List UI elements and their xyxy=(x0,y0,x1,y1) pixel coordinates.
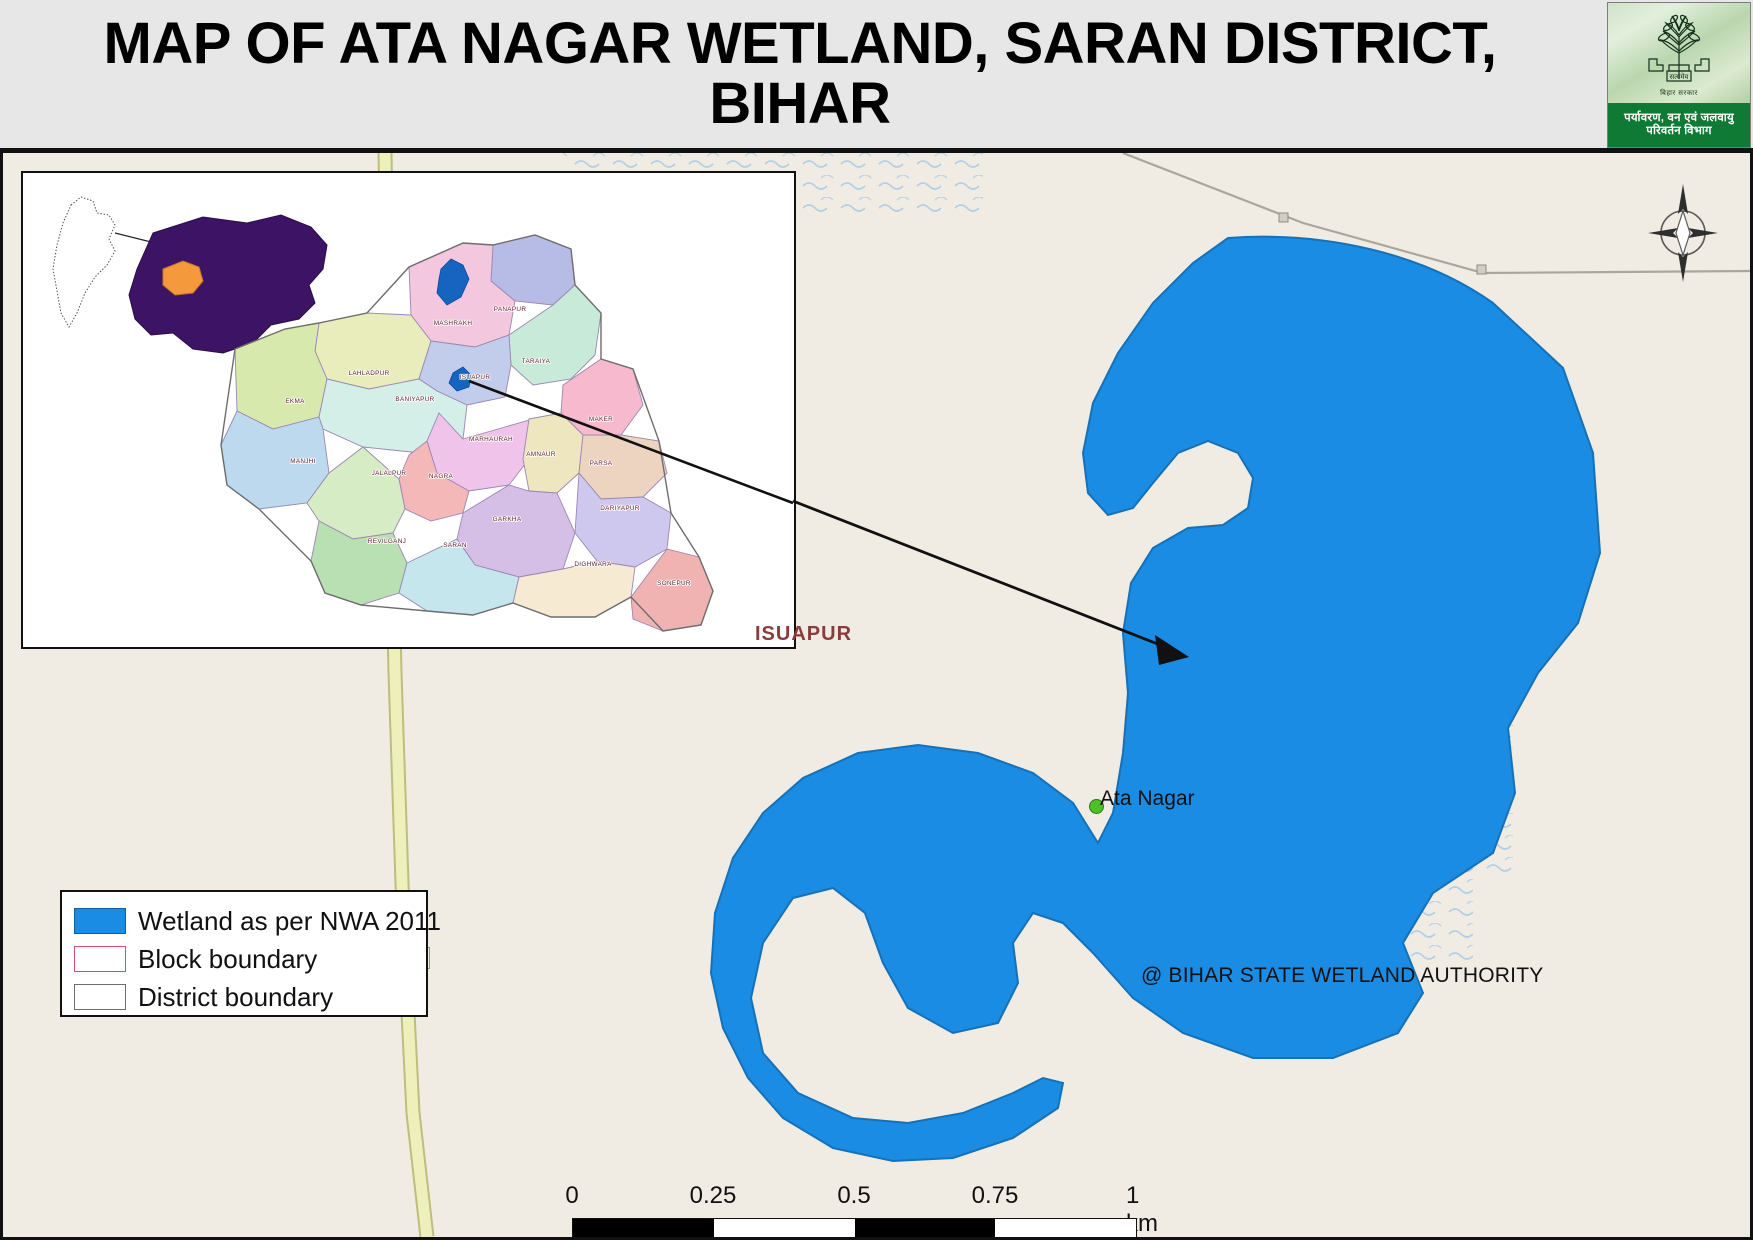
locator-inset-map[interactable]: PANAPURMASHRAKHTARAIYALAHLADPURISUAPUREK… xyxy=(21,171,796,649)
scale-tick-05: 0.5 xyxy=(837,1182,870,1210)
inset-block-label: GARKHA xyxy=(493,516,522,523)
legend-row: Wetland as per NWA 2011 xyxy=(74,902,426,940)
inset-block-label: REVILGANJ xyxy=(368,538,406,545)
emblem-icon: सत्यमेव बिहार सरकार xyxy=(1608,7,1750,107)
inset-block-label: MAKER xyxy=(589,416,613,423)
inset-block-label: AMNAUR xyxy=(526,451,556,458)
inset-block-label: PANAPUR xyxy=(494,306,527,313)
map-poster: MAP OF ATA NAGAR WETLAND, SARAN DISTRICT… xyxy=(0,0,1753,1240)
inset-block-label: DIGHWARA xyxy=(574,561,612,568)
inset-graphics: PANAPURMASHRAKHTARAIYALAHLADPURISUAPUREK… xyxy=(23,173,794,647)
inset-block-label: LAHLADPUR xyxy=(348,370,389,377)
main-map-canvas[interactable]: PANAPURMASHRAKHTARAIYALAHLADPURISUAPUREK… xyxy=(0,150,1753,1240)
poster-header: MAP OF ATA NAGAR WETLAND, SARAN DISTRICT… xyxy=(0,0,1753,150)
scale-tick-025: 0.25 xyxy=(690,1182,737,1210)
legend-row: District boundary xyxy=(74,978,426,1016)
legend-swatch-block-boundary xyxy=(74,946,126,972)
inset-block-label: NAGRA xyxy=(429,473,454,480)
scale-segment xyxy=(855,1219,996,1237)
inset-block-label: BANIYAPUR xyxy=(395,396,434,403)
logo-dept-line1: पर्यावरण, वन एवं जलवायु xyxy=(1624,112,1734,125)
north-arrow-icon xyxy=(1642,178,1724,288)
inset-block-label: DARIYAPUR xyxy=(600,505,640,512)
scale-segment xyxy=(714,1219,855,1237)
bihar-forest-dept-logo: सत्यमेव बिहार सरकार पर्यावरण, वन एवं जलव… xyxy=(1607,2,1751,148)
legend-swatch-district-boundary xyxy=(74,984,126,1010)
svg-text:सत्यमेव: सत्यमेव xyxy=(1670,72,1689,81)
inset-block-label: SONEPUR xyxy=(657,580,691,587)
legend-label-district-boundary: District boundary xyxy=(138,982,333,1013)
legend-label-wetland: Wetland as per NWA 2011 xyxy=(138,906,441,937)
scale-segment xyxy=(573,1219,714,1237)
inset-block-label: PARSA xyxy=(590,460,613,467)
scale-bar-segments xyxy=(572,1218,1137,1238)
place-label-ata-nagar: Ata Nagar xyxy=(1100,787,1195,811)
inset-block-label: MASHRAKH xyxy=(434,320,473,327)
inset-block-label: MARHAURAH xyxy=(469,436,513,443)
map-attribution: @ BIHAR STATE WETLAND AUTHORITY xyxy=(1141,964,1543,988)
scale-tick-0: 0 xyxy=(565,1182,578,1210)
legend-row: Block boundary xyxy=(74,940,426,978)
inset-block-label: JALALPUR xyxy=(372,470,407,477)
logo-dept-band: पर्यावरण, वन एवं जलवायु परिवर्तन विभाग xyxy=(1608,103,1750,147)
scale-bar-ticks: 0 0.25 0.5 0.75 1 km xyxy=(572,1182,1142,1212)
block-label-isuapur: ISUAPUR xyxy=(755,623,852,646)
inset-block-label: TARAIYA xyxy=(522,358,551,365)
map-legend: Wetland as per NWA 2011 Block boundary D… xyxy=(60,890,428,1017)
logo-dept-line2: परिवर्तन विभाग xyxy=(1646,125,1711,138)
inset-block-label: EKMA xyxy=(285,398,305,405)
inset-block-label: MANJHI xyxy=(290,458,316,465)
tree-emblem-svg: सत्यमेव xyxy=(1633,7,1725,91)
inset-block-label: ISUAPUR xyxy=(460,374,491,381)
legend-label-block-boundary: Block boundary xyxy=(138,944,317,975)
scale-segment xyxy=(995,1219,1136,1237)
scale-bar: 0 0.25 0.5 0.75 1 km xyxy=(572,1182,1142,1240)
map-disclaimer: Map for reference purposes only; not to … xyxy=(25,1236,421,1240)
logo-govt-text: बिहार सरकार xyxy=(1660,89,1698,98)
page-title: MAP OF ATA NAGAR WETLAND, SARAN DISTRICT… xyxy=(0,0,1600,148)
scale-tick-075: 0.75 xyxy=(972,1182,1019,1210)
legend-swatch-wetland xyxy=(74,908,126,934)
inset-block-label: SARAN xyxy=(443,542,467,549)
